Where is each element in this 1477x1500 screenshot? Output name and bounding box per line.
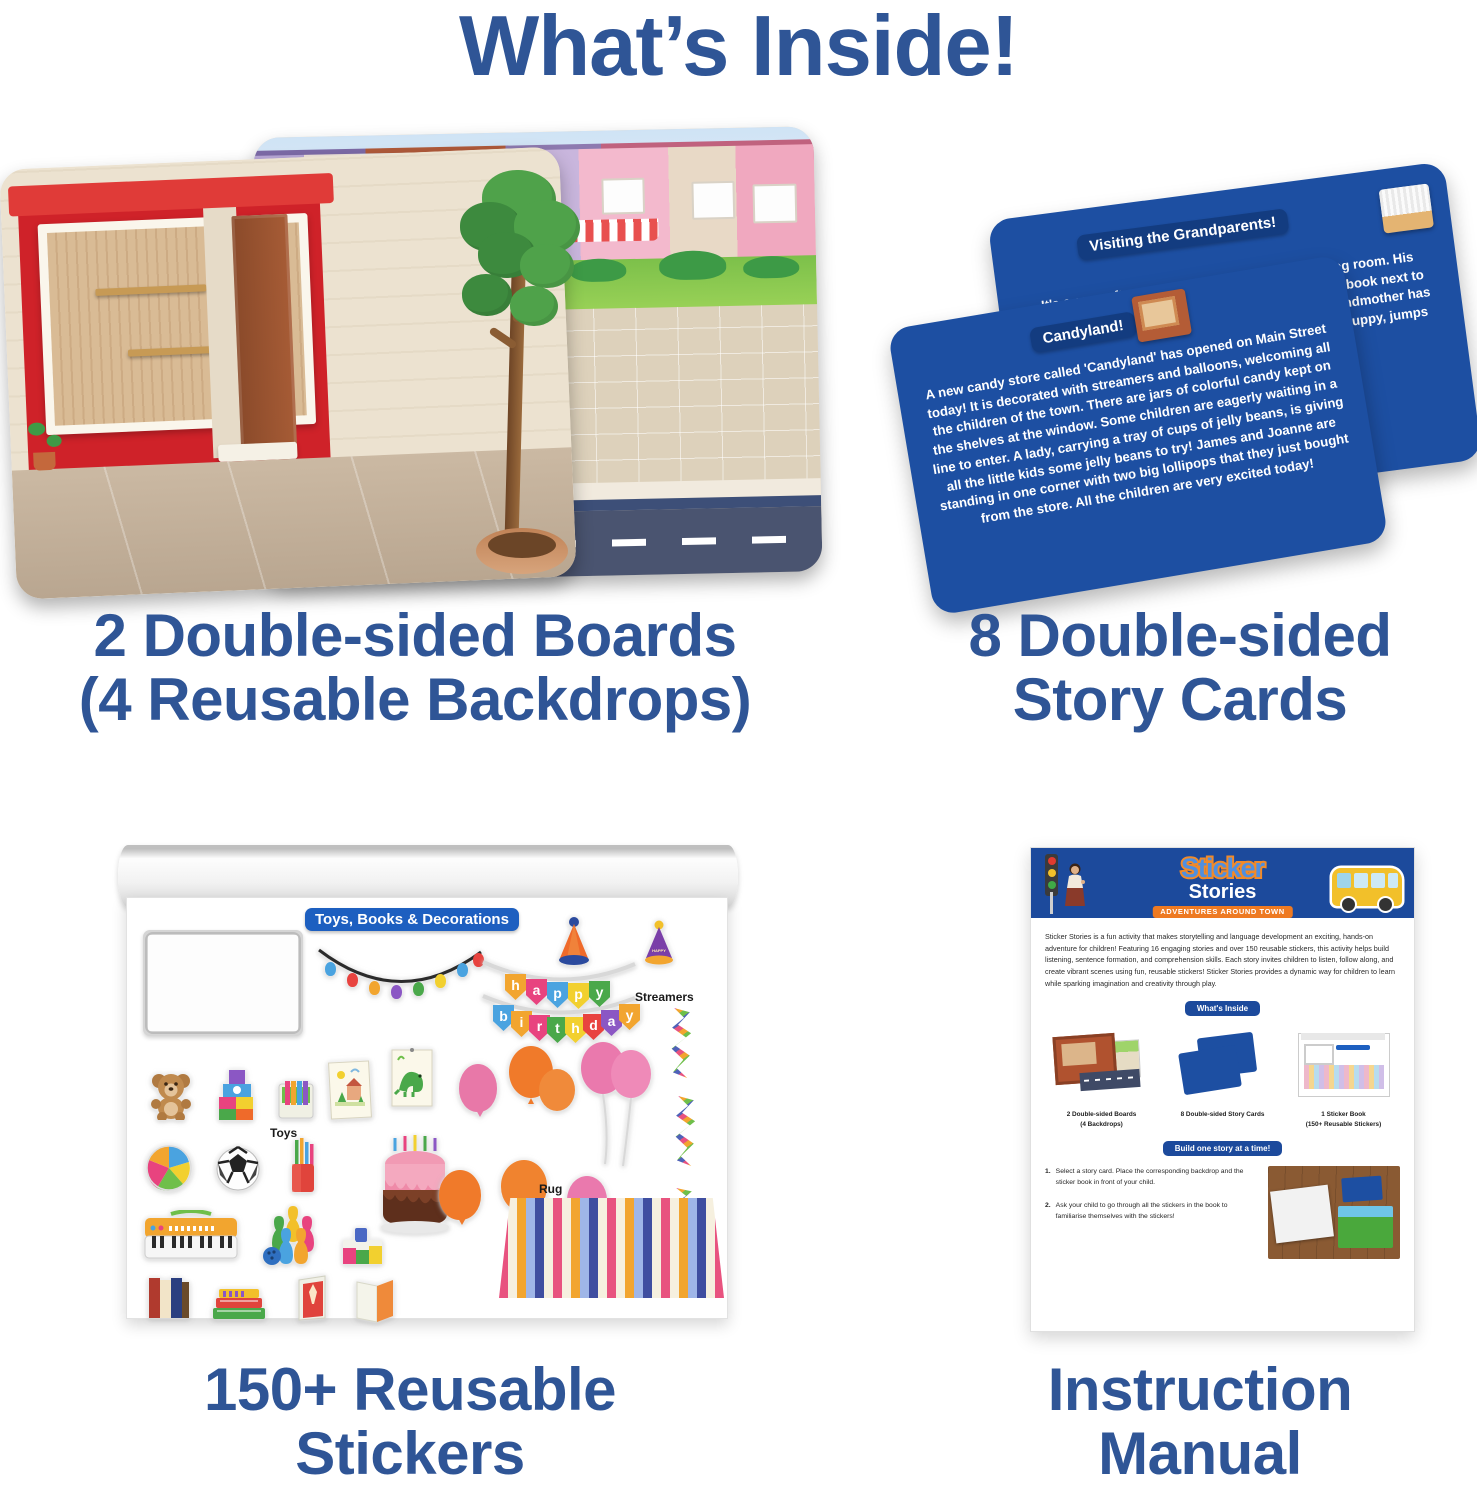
inside-caption-line1: 8 Double-sided Story Cards [1167, 1110, 1279, 1119]
teddy-bear-sticker [149, 1070, 193, 1120]
boards-thumbnail-icon [1046, 1027, 1158, 1105]
manual-inside-item-sticker-book: 1 Sticker Book (150+ Reusable Stickers) [1288, 1027, 1400, 1129]
whiteboard-sticker [143, 930, 303, 1036]
streamers-label: Streamers [635, 990, 694, 1004]
traffic-light-icon [1045, 854, 1058, 896]
stickers-caption: 150+ Reusable Stickers [100, 1358, 720, 1485]
toy-box-sticker [277, 1078, 315, 1120]
manual-step: 1. Select a story card. Place the corres… [1045, 1166, 1259, 1188]
cards-caption: 8 Double-sided Story Cards [900, 604, 1460, 731]
story-card-title: Candyland! [1029, 311, 1137, 353]
sticker-sheet-badge: Toys, Books & Decorations [305, 908, 519, 931]
sticker-book-thumbnail-icon [1288, 1027, 1400, 1105]
open-book-orange-sticker [353, 1278, 397, 1324]
infographic-page: What’s Inside! [0, 0, 1477, 1500]
step-text: Select a story card. Place the correspon… [1056, 1166, 1259, 1188]
manual-step: 2. Ask your child to go through all the … [1045, 1200, 1259, 1222]
manual-logo-line1: Sticker [1152, 855, 1292, 882]
manual-inside-item-boards: 2 Double-sided Boards (4 Backdrops) [1046, 1027, 1158, 1129]
stickers-caption-line1: 150+ Reusable [100, 1358, 720, 1422]
step-text: Ask your child to go through all the sti… [1056, 1200, 1259, 1222]
cards-thumbnail-icon [1167, 1027, 1279, 1105]
manual-logo-line2: Stories [1152, 882, 1292, 902]
stickers-caption-line2: Stickers [100, 1422, 720, 1486]
balloon-orange-pair-sticker [505, 1046, 577, 1118]
manual-logo-subtitle: ADVENTURES AROUND TOWN [1152, 906, 1292, 918]
sticker-sheet: Toys, Books & Decorations [126, 897, 728, 1319]
inside-caption-line2: (4 Backdrops) [1046, 1120, 1158, 1129]
manual-inside-items: 2 Double-sided Boards (4 Backdrops) 8 Do… [1031, 1027, 1414, 1129]
building-blocks-sticker [215, 1068, 259, 1120]
shop-door-icon [231, 214, 297, 457]
story-card-body: A new candy store called 'Candyland' has… [917, 318, 1356, 535]
open-book-red-sticker [293, 1274, 333, 1322]
manual-build-badge: Build one story at a time! [1163, 1141, 1283, 1156]
toy-piano-sticker [143, 1210, 239, 1262]
pencil-cup-sticker [285, 1138, 319, 1194]
balloon-pink-pair-sticker [579, 1040, 655, 1170]
balloon-pink-1-sticker [459, 1064, 497, 1112]
candy-shop-thumbnail-icon [1131, 288, 1192, 342]
manual-header: Sticker Stories ADVENTURES AROUND TOWN [1031, 848, 1414, 918]
rug-label: Rug [539, 1182, 562, 1196]
manual-caption: Instruction Manual [950, 1358, 1450, 1485]
streamer-ribbon-2-sticker [673, 1096, 699, 1166]
boards-caption: 2 Double-sided Boards (4 Reusable Backdr… [0, 604, 830, 731]
tree-decoration-icon [452, 156, 592, 576]
cards-caption-line2: Story Cards [900, 668, 1460, 732]
manual-caption-line1: Instruction [950, 1358, 1450, 1422]
story-card-candyland: Candyland! A new candy store called 'Can… [887, 254, 1389, 616]
sticker-book-image-group: Toys, Books & Decorations [104, 845, 764, 1335]
instruction-manual-image: Sticker Stories ADVENTURES AROUND TOWN S… [1030, 847, 1415, 1332]
picture-card-house-sticker [327, 1058, 373, 1120]
inside-caption-line1: 1 Sticker Book [1288, 1110, 1400, 1119]
story-card-title: Visiting the Grandparents! [1076, 208, 1290, 260]
inside-caption-line1: 2 Double-sided Boards [1046, 1110, 1158, 1119]
books-stack-sticker [211, 1282, 267, 1322]
sofa-thumbnail-icon [1379, 183, 1434, 233]
inside-caption-line2: (150+ Reusable Stickers) [1288, 1120, 1400, 1129]
books-upright-sticker [145, 1276, 193, 1320]
school-bus-icon [1332, 868, 1402, 906]
manual-whats-inside-badge: What's Inside [1185, 1001, 1260, 1016]
story-cards-image-group: Visiting the Grandparents! It's a cozy a… [900, 180, 1477, 600]
manual-steps: 1. Select a story card. Place the corres… [1031, 1156, 1414, 1259]
beach-ball-sticker [145, 1144, 193, 1192]
step-number: 1. [1045, 1166, 1051, 1188]
picture-card-dinosaur-sticker [389, 1046, 435, 1108]
balloon-orange-1-sticker [439, 1170, 481, 1220]
step-number: 2. [1045, 1200, 1051, 1222]
striped-rug-sticker [499, 1198, 724, 1298]
party-hat-orange-sticker [557, 916, 591, 968]
paint-pots-sticker [341, 1226, 385, 1268]
person-icon [1065, 862, 1085, 912]
boards-image-group [0, 118, 840, 598]
manual-caption-line2: Manual [950, 1422, 1450, 1486]
boards-caption-line1: 2 Double-sided Boards [0, 604, 830, 668]
manual-inside-item-cards: 8 Double-sided Story Cards [1167, 1027, 1279, 1119]
bowling-pins-sticker [263, 1204, 327, 1266]
steps-photo [1268, 1166, 1400, 1259]
svg-text:HAPPY: HAPPY [652, 948, 666, 953]
manual-intro-text: Sticker Stories is a fun activity that m… [1031, 918, 1414, 995]
manual-logo: Sticker Stories ADVENTURES AROUND TOWN [1152, 855, 1292, 918]
soccer-ball-sticker [215, 1146, 261, 1192]
party-hat-purple-sticker: HAPPY [643, 920, 675, 968]
cards-caption-line1: 8 Double-sided [900, 604, 1460, 668]
streamer-ribbon-1-sticker [669, 1008, 695, 1078]
string-lights-sticker [315, 946, 485, 1002]
page-title: What’s Inside! [0, 0, 1477, 96]
boards-caption-line2: (4 Reusable Backdrops) [0, 668, 830, 732]
